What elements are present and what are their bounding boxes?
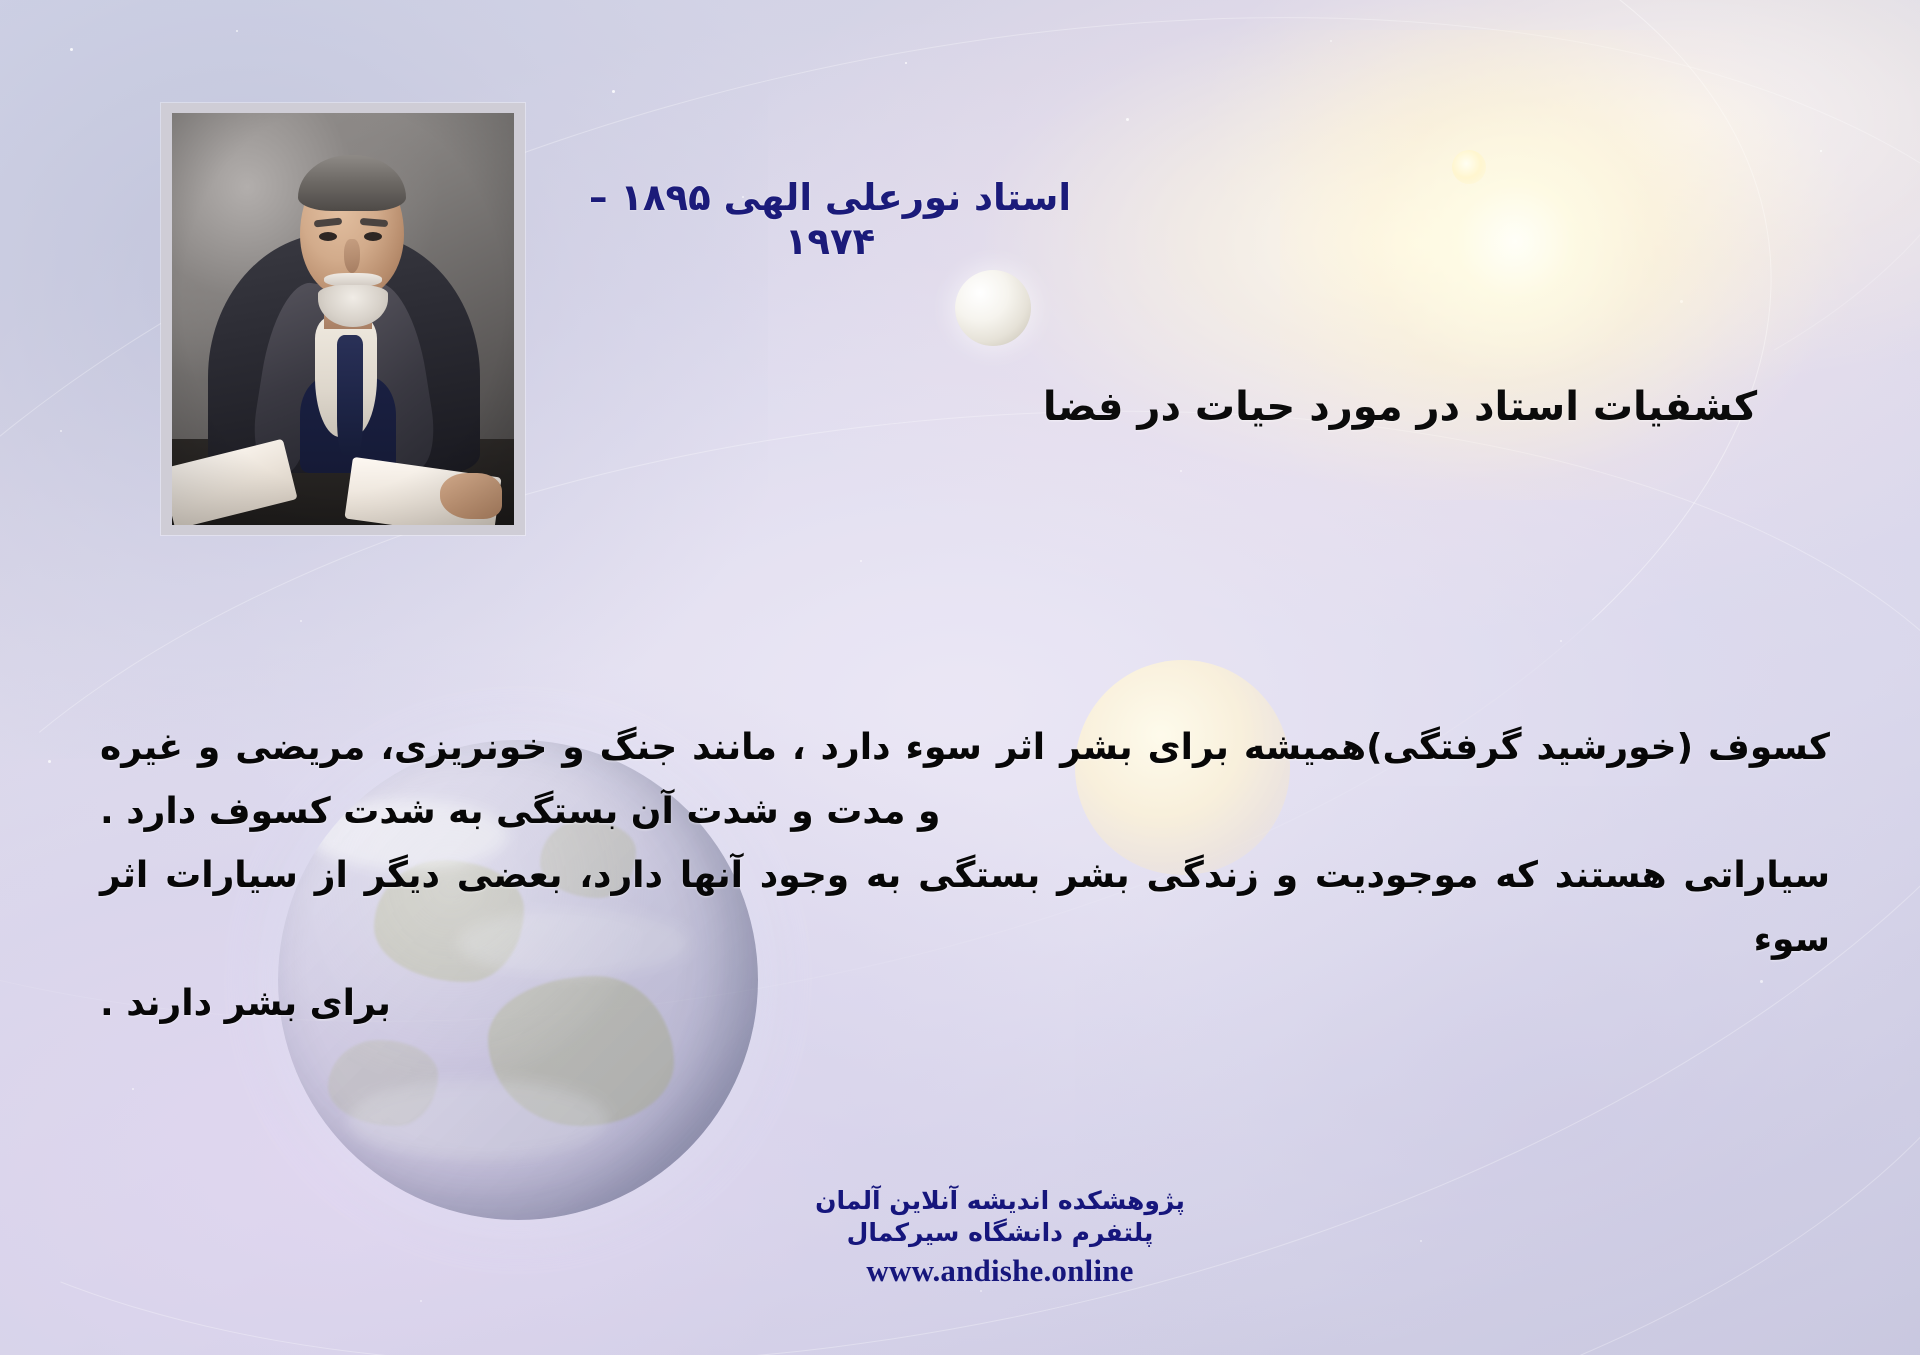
slide-heading: کشفیات استاد در مورد حیات در فضا	[1000, 382, 1800, 432]
sun-core-icon	[1452, 150, 1486, 184]
subject-name-title: استاد نورعلی الهی ۱۸۹۵ – ۱۹۷۴	[560, 176, 1100, 265]
footer-platform: پلتفرم دانشگاه سیرکمال	[660, 1217, 1340, 1249]
slide-canvas: استاد نورعلی الهی ۱۸۹۵ – ۱۹۷۴ کشفیات است…	[0, 0, 1920, 1355]
footer-organization: پژوهشکده اندیشه آنلاین آلمان	[660, 1185, 1340, 1217]
moon-sphere	[955, 270, 1031, 346]
body-line: کسوف (خورشید گرفتگی)همیشه برای بشر اثر س…	[100, 716, 1830, 780]
footer-website-link[interactable]: www.andishe.online	[660, 1251, 1340, 1291]
footer-block: پژوهشکده اندیشه آنلاین آلمان پلتفرم دانش…	[660, 1185, 1340, 1291]
body-text-block: کسوف (خورشید گرفتگی)همیشه برای بشر اثر س…	[100, 716, 1830, 1036]
body-line: و مدت و شدت آن بستگی به شدت کسوف دارد .	[100, 780, 1830, 844]
portrait-frame	[161, 103, 525, 535]
portrait-photo	[172, 113, 514, 525]
body-line: برای بشر دارند .	[100, 972, 1830, 1036]
body-line: سیاراتی هستند که موجودیت و زندگی بشر بست…	[100, 844, 1830, 972]
